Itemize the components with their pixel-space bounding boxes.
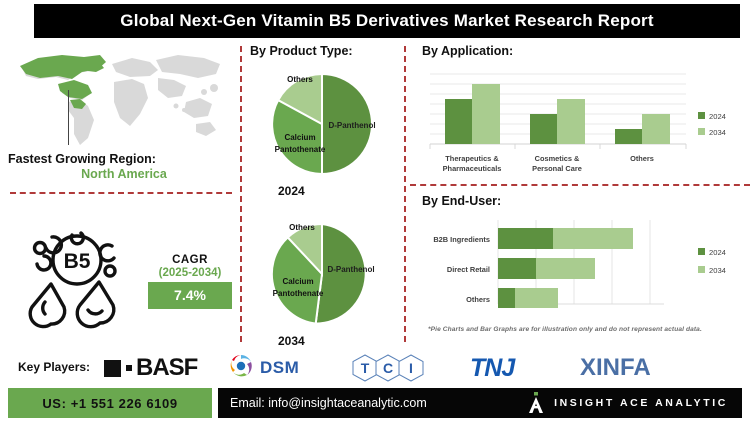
basf-square-icon [104,360,121,377]
svg-text:Therapeutics &: Therapeutics & [445,154,499,163]
svg-text:B2B Ingredients: B2B Ingredients [433,235,490,244]
svg-text:Calcium: Calcium [284,133,315,142]
chart-footnote: *Pie Charts and Bar Graphs are for illus… [428,326,748,333]
cagr-title: CAGR [148,254,232,266]
logo-tnj: TNJ [470,348,514,388]
logo-basf: BASF [104,348,197,388]
svg-text:2034: 2034 [709,266,726,275]
svg-text:D-Panthenol: D-Panthenol [328,121,375,130]
email-banner: Email: info@insightaceanalytic.com INSIG… [218,388,742,418]
brand-name: INSIGHT ACE ANALYTIC [554,397,728,409]
svg-text:C: C [383,360,393,376]
svg-text:Others: Others [466,295,490,304]
fastest-growing-region: Fastest Growing Region: North America [8,152,234,181]
svg-text:Others: Others [287,75,313,84]
product-type-title: By Product Type: [250,44,353,58]
svg-text:Others: Others [630,154,654,163]
logo-xinfa: XINFA [580,348,651,388]
brand-lockup: INSIGHT ACE ANALYTIC [528,392,728,414]
xinfa-wordmark: XINFA [580,354,651,382]
header-bar: Global Next-Gen Vitamin B5 Derivatives M… [34,4,740,38]
enduser-bar-chart: B2B Ingredients Direct Retail Others 202… [412,214,750,336]
map-leader-line [68,90,69,145]
logo-dsm: DSM [228,348,299,388]
svg-text:Pharmaceuticals: Pharmaceuticals [443,164,502,173]
cagr-value: 7.4% [148,282,232,309]
dsm-wordmark: DSM [260,358,299,378]
tci-hex-3-icon: I [398,354,424,382]
insightace-logo-icon [528,392,544,414]
footer-bar: US: +1 551 226 6109 Email: info@insighta… [0,388,750,422]
phone-banner: US: +1 551 226 6109 [8,388,212,418]
right-panel: By Application: [404,42,750,342]
dsm-swirl-icon [228,353,254,384]
svg-text:Direct Retail: Direct Retail [447,265,490,274]
svg-text:Pantothenate: Pantothenate [273,289,324,298]
logo-tci: T C I [352,348,421,388]
svg-text:I: I [409,360,413,376]
basf-dot-icon [126,365,132,371]
enduser-title: By End-User: [422,194,501,208]
cagr-years: (2025-2034) [148,267,232,279]
tnj-wordmark: TNJ [470,354,514,383]
pie-2024-year-label: 2024 [278,184,305,198]
svg-text:Calcium: Calcium [282,277,313,286]
pie-chart-2034: D-Panthenol Calcium Pantothenate Others [252,208,392,338]
svg-text:Cosmetics &: Cosmetics & [535,154,580,163]
region-value: North America [8,167,234,181]
svg-text:T: T [361,360,370,376]
pie-2034-year-label: 2034 [278,334,305,348]
key-players-row: Key Players: BASF DSM [0,348,750,388]
divider-right-horizontal [410,184,750,186]
application-bar-chart: Therapeutics & Pharmaceuticals Cosmetics… [412,60,750,180]
pie-chart-2024: D-Panthenol Calcium Pantothenate Others [252,58,392,188]
svg-text:2024: 2024 [709,248,726,257]
basf-wordmark: BASF [136,354,197,382]
svg-text:Personal Care: Personal Care [532,164,582,173]
vitamin-b5-icon: B5 [18,230,138,330]
region-caption: Fastest Growing Region: [8,152,234,166]
application-title: By Application: [422,44,513,58]
svg-text:2024: 2024 [709,112,726,121]
email-address: Email: info@insightaceanalytic.com [230,396,427,410]
phone-number: US: +1 551 226 6109 [42,396,177,411]
infographic-page: Global Next-Gen Vitamin B5 Derivatives M… [0,0,750,422]
world-map-icon [8,46,230,151]
svg-text:D-Panthenol: D-Panthenol [327,265,374,274]
svg-text:Others: Others [289,223,315,232]
left-panel: Fastest Growing Region: North America [0,42,236,342]
svg-text:2034: 2034 [709,128,726,137]
page-title: Global Next-Gen Vitamin B5 Derivatives M… [120,11,653,31]
cagr-panel: CAGR (2025-2034) 7.4% [148,254,232,309]
key-players-label: Key Players: [18,360,90,374]
divider-left-horizontal [10,192,232,194]
svg-text:Pantothenate: Pantothenate [275,145,326,154]
product-type-panel: By Product Type: D-Panthenol Calcium Pan… [240,42,400,342]
svg-text:B5: B5 [64,250,91,273]
